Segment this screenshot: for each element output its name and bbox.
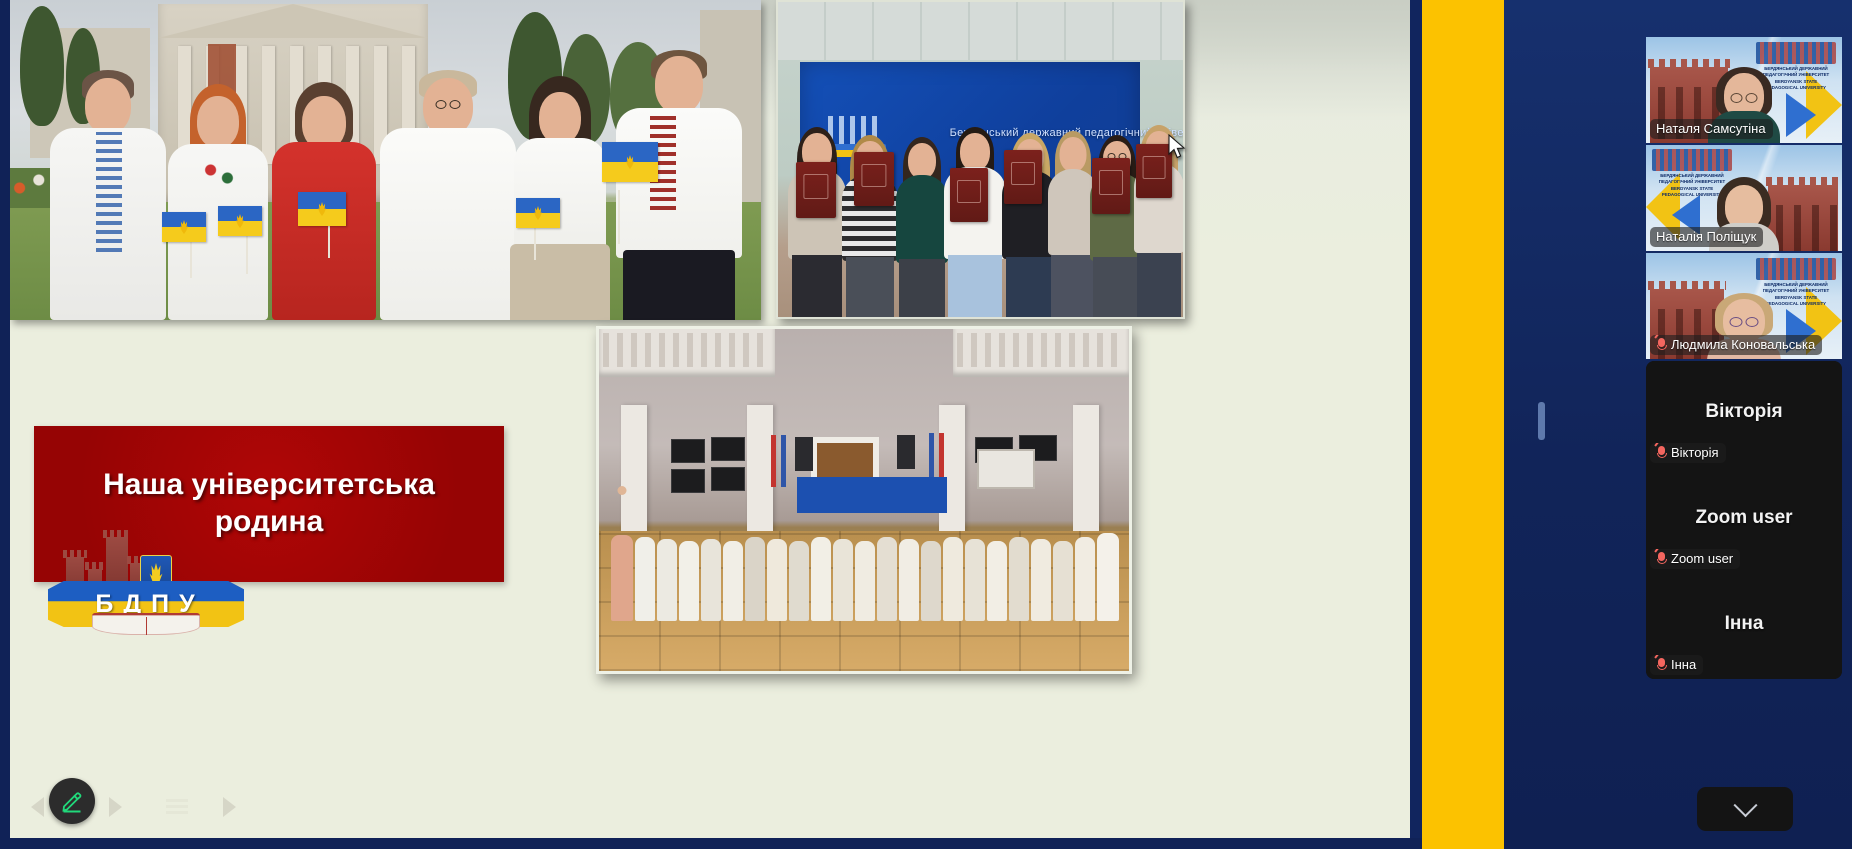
participant-name: Наталія Поліщук	[1656, 229, 1756, 244]
avatar-display-name: Вікторія	[1646, 401, 1842, 423]
tile-name-badge: Наталя Самсутіна	[1650, 119, 1773, 139]
scroll-down-button[interactable]	[1697, 787, 1793, 831]
participant-name: Zoom user	[1671, 551, 1733, 566]
next-slide-button[interactable]	[102, 794, 128, 820]
open-book-icon	[92, 613, 200, 635]
photo-assembly-hall-group	[596, 326, 1132, 674]
share-panel-drag-handle[interactable]	[1538, 402, 1545, 440]
chevron-down-icon	[1733, 793, 1757, 817]
zoom-participants-rail: БЕРДЯНСЬКИЙ ДЕРЖАВНИЙПЕДАГОГІЧНИЙ УНІВЕР…	[1422, 0, 1852, 849]
bdpu-emblem: БДПУ	[48, 525, 244, 635]
tile-name-badge: Zoom user	[1650, 549, 1740, 569]
photo-students-with-diplomas: Бердянський державний педагогічний уніве…	[776, 0, 1185, 319]
participant-name: Інна	[1671, 657, 1696, 672]
avatar-display-name: Zoom user	[1646, 507, 1842, 529]
video-thumbnail-strip: БЕРДЯНСЬКИЙ ДЕРЖАВНИЙПЕДАГОГІЧНИЙ УНІВЕР…	[1646, 37, 1842, 361]
participant-name: Вікторія	[1671, 445, 1719, 460]
shared-screen-region[interactable]: Бердянський державний педагогічний уніве…	[0, 0, 1422, 849]
mic-muted-icon	[1656, 552, 1667, 566]
previous-slide-button[interactable]	[24, 794, 50, 820]
avatar-tile-zoom-user[interactable]: Zoom user Zoom user	[1646, 467, 1842, 573]
pencil-icon	[60, 789, 84, 813]
avatar-tile-viktoriia[interactable]: Вікторія Вікторія	[1646, 361, 1842, 467]
video-tile-natalia-samsutina[interactable]: БЕРДЯНСЬКИЙ ДЕРЖАВНИЙПЕДАГОГІЧНИЙ УНІВЕР…	[1646, 37, 1842, 143]
video-tile-nataliia-polishchuk[interactable]: БЕРДЯНСЬКИЙ ДЕРЖАВНИЙПЕДАГОГІЧНИЙ УНІВЕР…	[1646, 145, 1842, 251]
window-edge-bottom	[0, 838, 1422, 849]
mic-muted-icon	[1656, 658, 1667, 672]
participant-name: Наталя Самсутіна	[1656, 121, 1766, 136]
avatar-tile-inna[interactable]: Інна Інна	[1646, 573, 1842, 679]
slide-menu-icon[interactable]	[164, 794, 190, 820]
advance-arrow-icon[interactable]	[216, 794, 242, 820]
avatar-tile-stack: Вікторія Вікторія Zoom user Zoom user	[1646, 361, 1842, 679]
window-edge-left	[0, 0, 10, 849]
video-tile-liudmyla-konovalska[interactable]: БЕРДЯНСЬКИЙ ДЕРЖАВНИЙПЕДАГОГІЧНИЙ УНІВЕР…	[1646, 253, 1842, 359]
tile-name-badge: Вікторія	[1650, 443, 1726, 463]
mic-muted-icon	[1656, 446, 1667, 460]
tile-name-badge: Інна	[1650, 655, 1703, 675]
slide-title-line-1: Наша університетська	[103, 468, 435, 501]
powerpoint-slide[interactable]: Бердянський державний педагогічний уніве…	[10, 0, 1410, 838]
avatar-display-name: Інна	[1646, 613, 1842, 635]
tile-name-badge: Наталія Поліщук	[1650, 227, 1763, 247]
participant-name: Людмила Коновальська	[1671, 337, 1815, 352]
mic-muted-icon	[1656, 338, 1667, 352]
photo-group-with-flags	[10, 0, 761, 320]
zoom-meeting-window: Бердянський державний педагогічний уніве…	[0, 0, 1852, 849]
pen-tool-button[interactable]	[49, 778, 95, 824]
tile-name-badge: Людмила Коновальська	[1650, 335, 1822, 355]
yellow-accent-strip	[1422, 0, 1504, 849]
